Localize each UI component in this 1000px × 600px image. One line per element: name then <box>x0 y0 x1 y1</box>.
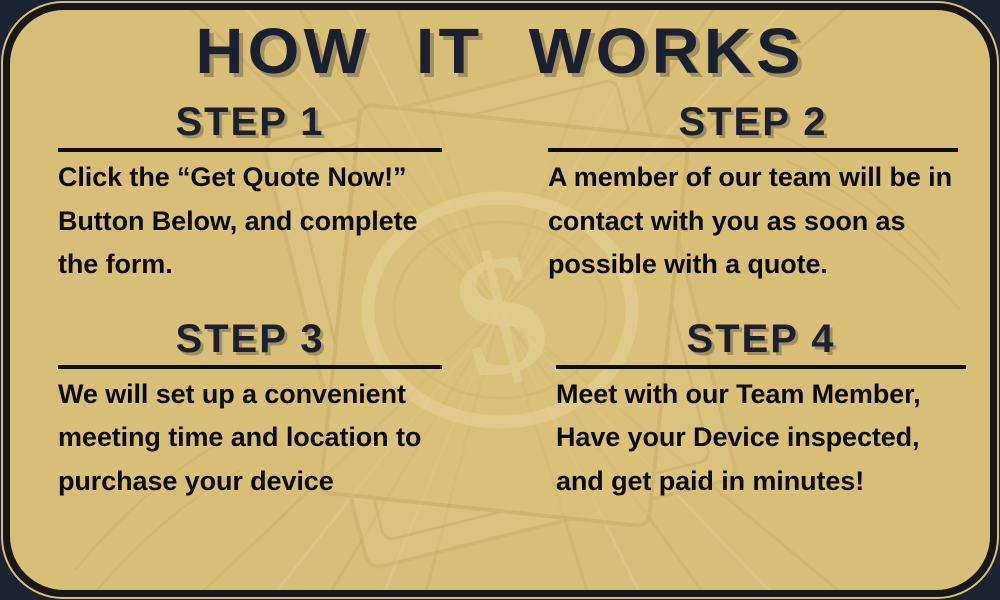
poster-content: HOW IT WORKS STEP 1 Click the “Get Quote… <box>10 10 990 590</box>
steps-row-top: STEP 1 Click the “Get Quote Now!” Button… <box>10 102 990 287</box>
step-4-body: Meet with our Team Member, Have your Dev… <box>556 373 966 503</box>
step-card-4: STEP 4 Meet with our Team Member, Have y… <box>500 319 990 503</box>
page-title: HOW IT WORKS <box>10 18 990 85</box>
step-3-heading: STEP 3 <box>58 319 442 359</box>
step-4-divider <box>556 365 966 369</box>
how-it-works-poster: $ HOW IT WORKS <box>0 0 1000 600</box>
step-1-body: Click the “Get Quote Now!” Button Below,… <box>58 156 442 287</box>
step-2-divider <box>548 148 958 152</box>
step-2-body: A member of our team will be in contact … <box>548 156 958 287</box>
steps-grid: STEP 1 Click the “Get Quote Now!” Button… <box>10 102 990 503</box>
step-3-divider <box>58 365 442 369</box>
step-1-heading: STEP 1 <box>58 102 442 142</box>
step-card-3: STEP 3 We will set up a convenient meeti… <box>10 319 500 503</box>
poster-card: $ HOW IT WORKS <box>10 10 990 590</box>
step-1-divider <box>58 148 442 152</box>
step-card-1: STEP 1 Click the “Get Quote Now!” Button… <box>10 102 500 287</box>
step-4-heading: STEP 4 <box>556 319 966 359</box>
step-3-body: We will set up a convenient meeting time… <box>58 373 442 503</box>
step-card-2: STEP 2 A member of our team will be in c… <box>500 102 990 287</box>
steps-row-bottom: STEP 3 We will set up a convenient meeti… <box>10 319 990 503</box>
step-2-heading: STEP 2 <box>548 102 958 142</box>
